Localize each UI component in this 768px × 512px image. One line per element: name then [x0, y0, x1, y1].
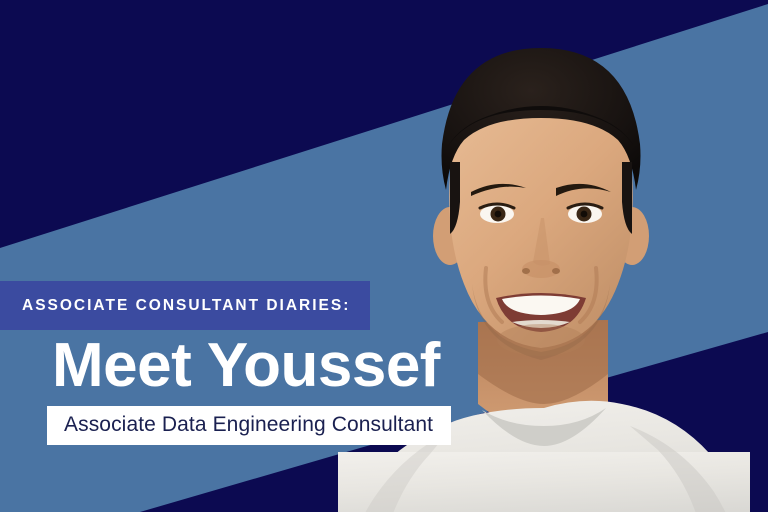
- pupil-right: [581, 211, 588, 218]
- associate-consultant-diaries-banner: ASSOCIATE CONSULTANT DIARIES: Meet Youss…: [0, 0, 768, 512]
- nostril-left: [522, 268, 530, 274]
- eyebrow-badge: ASSOCIATE CONSULTANT DIARIES:: [0, 281, 370, 330]
- eyebrow-label: ASSOCIATE CONSULTANT DIARIES:: [22, 295, 350, 316]
- headline-text-block: ASSOCIATE CONSULTANT DIARIES: Meet Youss…: [0, 281, 560, 445]
- pupil-left: [495, 211, 502, 218]
- page-title: Meet Youssef: [0, 332, 560, 400]
- subtitle-label: Associate Data Engineering Consultant: [64, 414, 433, 436]
- subtitle-pill: Associate Data Engineering Consultant: [47, 406, 451, 445]
- nostril-right: [552, 268, 560, 274]
